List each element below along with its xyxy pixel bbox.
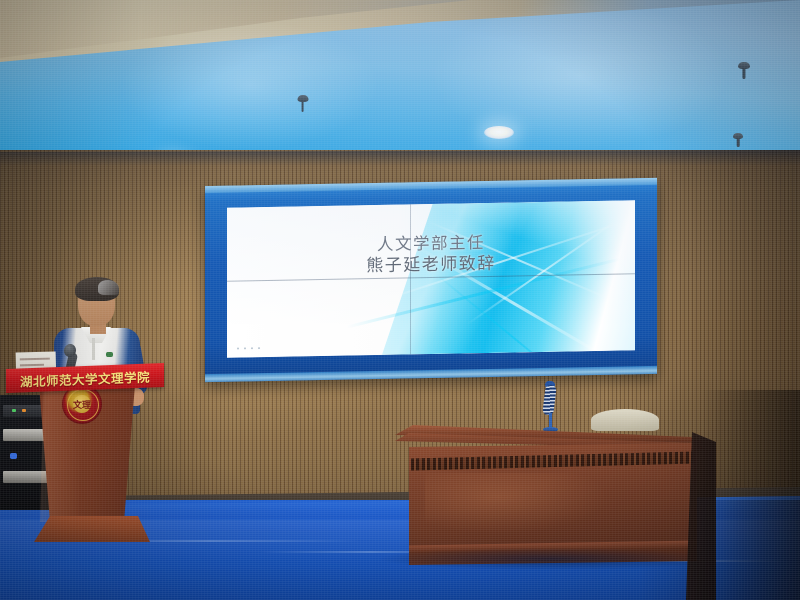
- rack-led-icon: [10, 453, 17, 459]
- emblem-glyph: 文理: [73, 398, 91, 411]
- right-edge-shadow: [700, 390, 800, 600]
- photo-scene: 人文学部主任 熊子延老师致辞: [0, 0, 800, 600]
- table-sheen: [425, 473, 605, 533]
- presenter-hair-highlight: [98, 280, 119, 295]
- rack-led-icon: [12, 409, 16, 412]
- desk-microphone-head: [542, 384, 557, 415]
- slide-text-block: 人文学部主任 熊子延老师致辞: [227, 229, 635, 280]
- videowall-tile-seam: [410, 204, 411, 354]
- sprinkler-head: [297, 95, 308, 112]
- chair-back: [591, 409, 659, 431]
- rack-led-icon: [22, 409, 26, 412]
- ceiling-downlight: [484, 126, 514, 139]
- desk-microphone: [543, 385, 557, 431]
- podium-banner-text: 湖北师范大学文理学院: [6, 366, 164, 391]
- head-table: [395, 425, 705, 565]
- video-wall-display[interactable]: 人文学部主任 熊子延老师致辞: [205, 178, 657, 382]
- shirt-logo-icon: [106, 352, 113, 357]
- presenter-placket: [92, 338, 95, 360]
- podium-base: [34, 516, 150, 542]
- slide-dots: [237, 347, 260, 349]
- speaking-podium: 文理: [28, 372, 146, 544]
- emblem-core: 文理: [73, 395, 91, 413]
- table-shadow: [380, 548, 720, 570]
- sprinkler-head: [738, 62, 750, 79]
- screen-panel: 人文学部主任 熊子延老师致辞: [227, 200, 635, 357]
- sprinkler-head: [733, 133, 743, 147]
